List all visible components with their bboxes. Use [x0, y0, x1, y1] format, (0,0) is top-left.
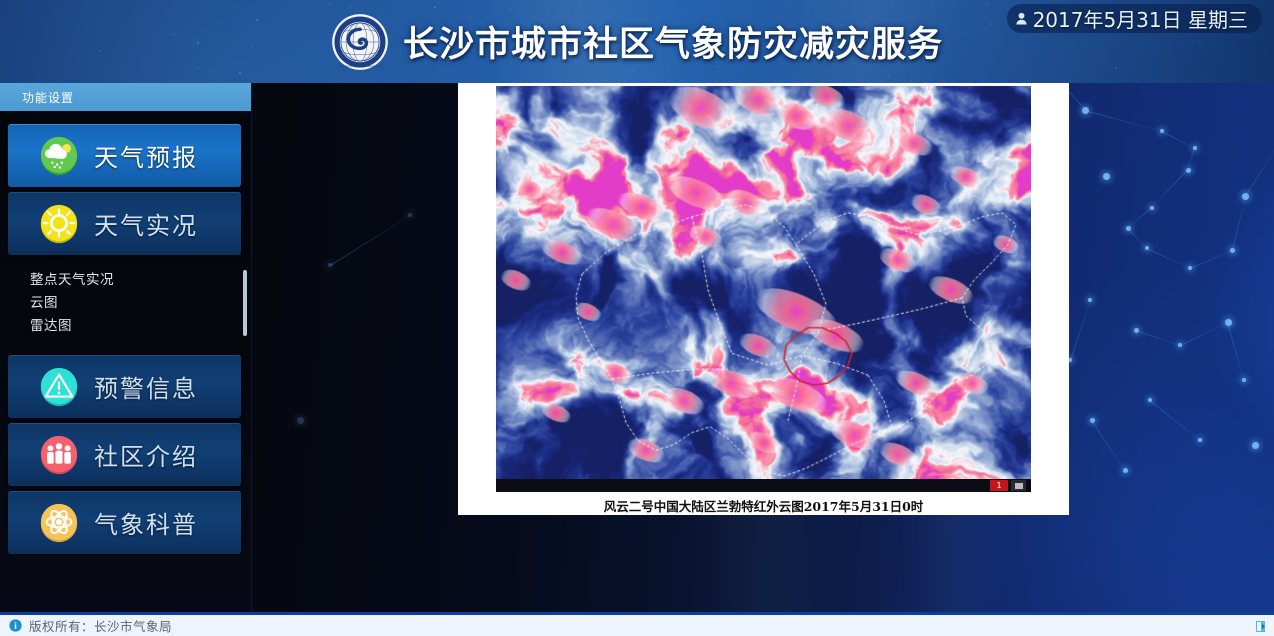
sidebar-item-weather-live[interactable]: 天气实况 — [8, 192, 241, 255]
submenu-item-hourly-observation[interactable]: 整点天气实况 — [8, 269, 241, 292]
people-group-icon — [38, 434, 80, 476]
cma-emblem-logo-icon: 中国气象局 CHINA METEOROLOGICAL ADMINISTRATIO… — [331, 13, 389, 71]
main-content: 1 风云二号中国大陆区兰勃特红外云图2017年5月31日0时 — [252, 83, 1274, 612]
satellite-badge-count[interactable]: 1 — [990, 480, 1008, 491]
info-icon — [9, 619, 22, 632]
svg-text:CHINA METEOROLOGICAL ADMINISTR: CHINA METEOROLOGICAL ADMINISTRATION — [338, 64, 383, 67]
satellite-image-toolbar: 1 — [496, 479, 1031, 492]
atom-icon — [38, 502, 80, 544]
resize-grip-icon[interactable] — [1255, 620, 1267, 633]
sidebar-item-label: 气象科普 — [94, 505, 198, 540]
submenu-item-radar-map[interactable]: 雷达图 — [8, 315, 241, 338]
sidebar-item-meteorology-science[interactable]: 气象科普 — [8, 491, 241, 554]
sidebar-item-label: 预警信息 — [94, 369, 198, 404]
sidebar-item-label: 社区介绍 — [94, 437, 198, 472]
sidebar-item-community-intro[interactable]: 社区介绍 — [8, 423, 241, 486]
sidebar: 功能设置 天气预报 — [0, 83, 252, 612]
page-title: 长沙市城市社区气象防灾减灾服务 — [403, 16, 943, 67]
svg-text:中国气象局: 中国气象局 — [351, 16, 369, 21]
sidebar-menu: 天气预报 — [0, 111, 251, 554]
page-footer: 版权所有：长沙市气象局 — [0, 612, 1274, 636]
user-icon — [1016, 12, 1027, 25]
application-window: 中国气象局 CHINA METEOROLOGICAL ADMINISTRATIO… — [0, 0, 1274, 636]
copyright-text: 版权所有：长沙市气象局 — [29, 616, 172, 635]
date-badge: 2017年5月31日 星期三 — [1007, 4, 1262, 33]
submenu-item-cloud-map[interactable]: 云图 — [8, 292, 241, 315]
sidebar-item-label: 天气预报 — [94, 138, 198, 173]
date-badge-text: 2017年5月31日 星期三 — [1033, 4, 1248, 33]
page-header: 中国气象局 CHINA METEOROLOGICAL ADMINISTRATIO… — [0, 0, 1274, 83]
sun-icon — [38, 203, 80, 245]
image-caption: 风云二号中国大陆区兰勃特红外云图2017年5月31日0时 — [458, 496, 1069, 515]
cloud-image-panel: 1 风云二号中国大陆区兰勃特红外云图2017年5月31日0时 — [458, 83, 1069, 515]
sidebar-item-weather-forecast[interactable]: 天气预报 — [8, 124, 241, 187]
warning-triangle-icon — [38, 366, 80, 408]
sidebar-item-label: 天气实况 — [94, 206, 198, 241]
satellite-image-canvas — [496, 86, 1031, 492]
cloud-sun-rain-icon — [38, 135, 80, 177]
window-icon[interactable] — [1011, 480, 1026, 491]
sidebar-submenu: 整点天气实况 云图 雷达图 — [8, 260, 241, 350]
submenu-scrollbar[interactable] — [243, 270, 247, 336]
sidebar-item-warning-info[interactable]: 预警信息 — [8, 355, 241, 418]
sidebar-section-title: 功能设置 — [0, 83, 252, 111]
satellite-image[interactable]: 1 — [496, 86, 1031, 492]
